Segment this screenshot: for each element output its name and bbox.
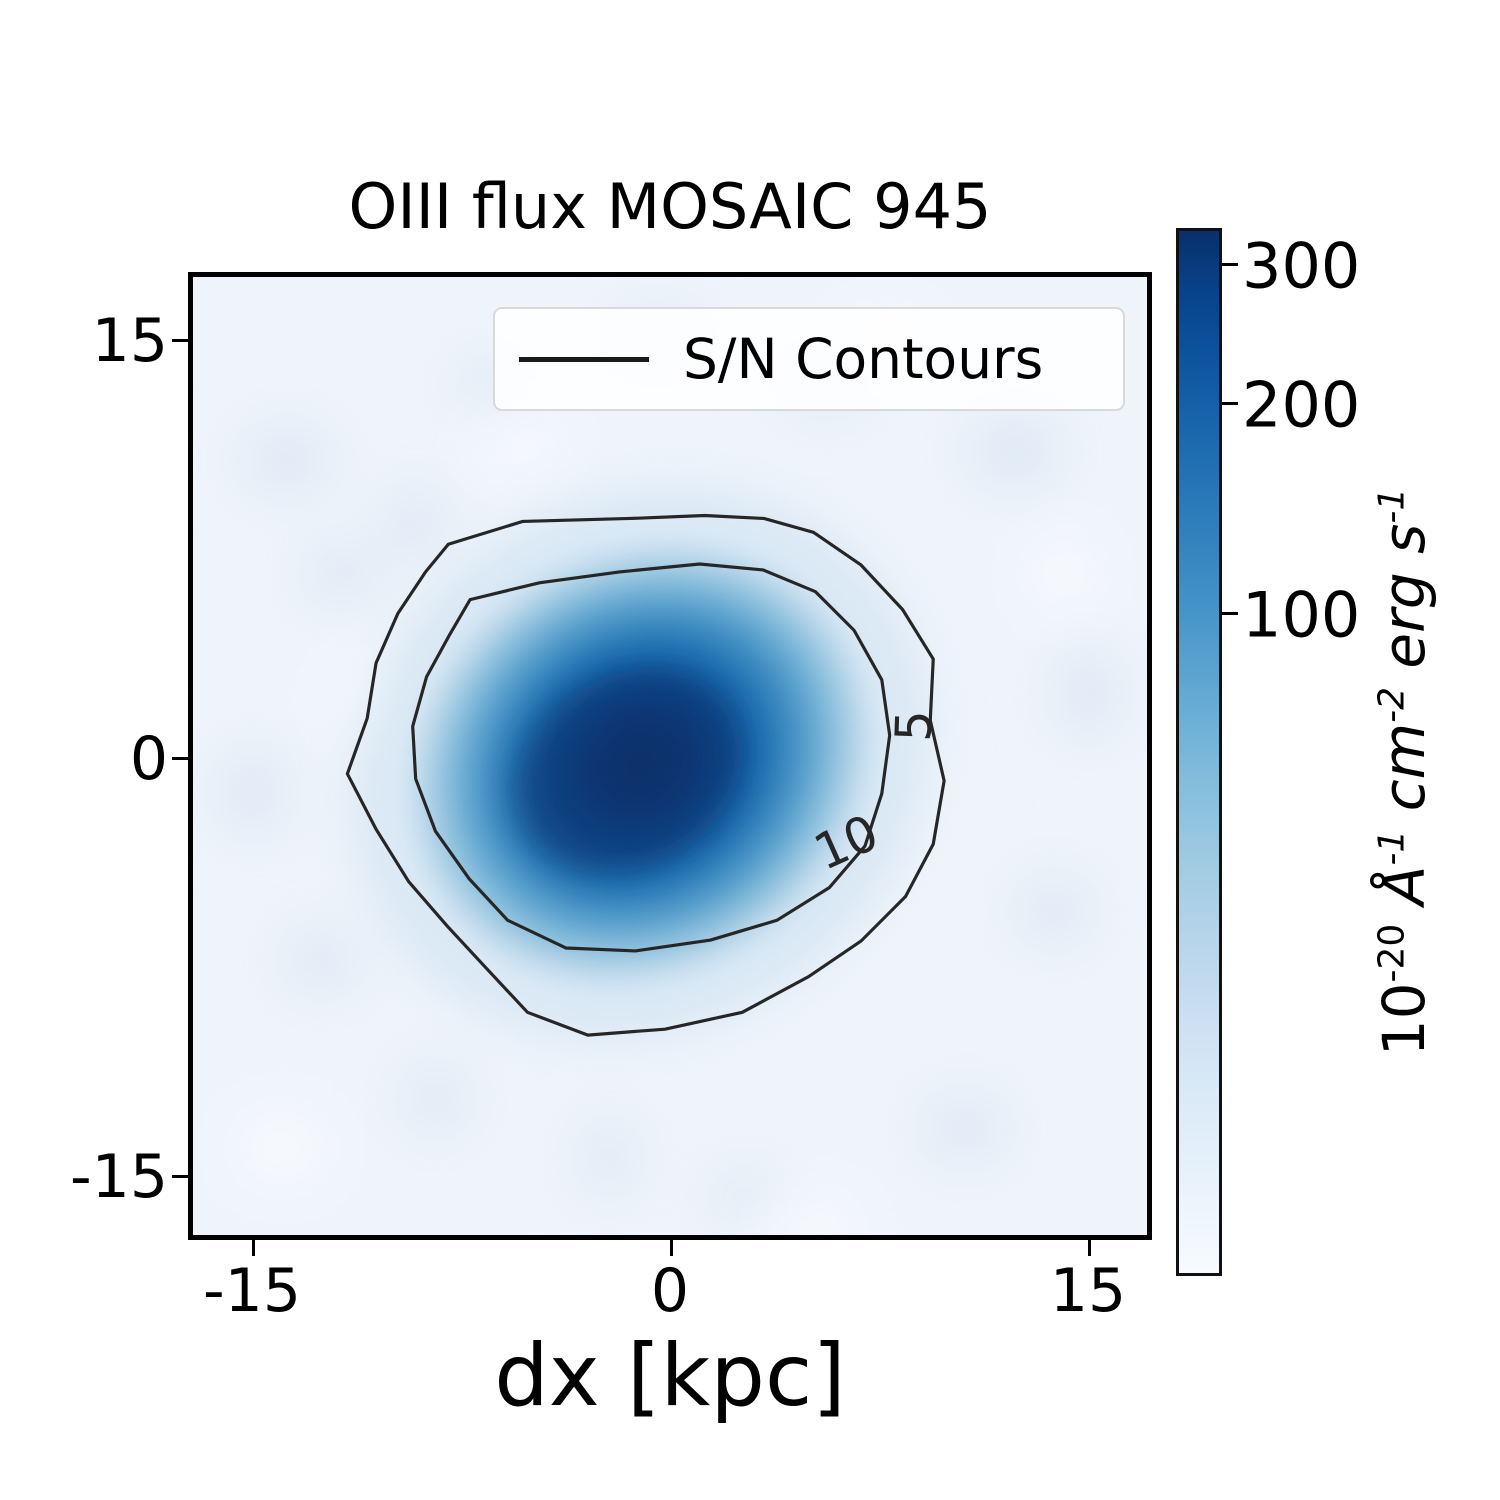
flux-image: 10 5 [193, 277, 1147, 1235]
x-tick-label: -15 [203, 1256, 301, 1326]
cbar-label-cm: cm [1370, 723, 1438, 811]
y-tick-label: -15 [70, 1142, 168, 1212]
y-tick-mark [172, 757, 188, 760]
x-tick-mark [252, 1240, 255, 1256]
flux-image-svg: 10 5 [193, 277, 1147, 1235]
legend-label: S/N Contours [683, 327, 1043, 391]
colorbar-tick-label: 300 [1242, 230, 1360, 303]
figure-canvas: OIII flux MOSAIC 945 [0, 0, 1500, 1500]
x-tick-mark [1088, 1240, 1091, 1256]
x-tick-label: 15 [1050, 1256, 1126, 1326]
x-tick-label: 0 [651, 1256, 689, 1326]
colorbar-label: 10-20 Å-1 cm-2 erg s-1 [1370, 488, 1438, 1057]
y-tick-mark [172, 339, 188, 342]
y-tick-label: 15 [92, 306, 168, 376]
cbar-label-cm-exp: -2 [1372, 687, 1413, 723]
svg-text:5: 5 [884, 709, 943, 742]
cbar-label-angstrom: Å [1370, 866, 1438, 906]
colorbar-tick-mark [1222, 263, 1238, 266]
legend-line-marker [519, 357, 649, 362]
x-tick-mark [670, 1240, 673, 1256]
cbar-label-erg-exp: -1 [1372, 488, 1413, 524]
cbar-label-prefix-exp: -20 [1372, 924, 1413, 983]
cbar-label-angstrom-exp: -1 [1372, 830, 1413, 866]
cbar-label-prefix: 10 [1370, 982, 1438, 1056]
y-tick-mark [172, 1175, 188, 1178]
x-axis-label: dx [kpc] [188, 1326, 1152, 1426]
y-tick-label: 0 [130, 724, 168, 794]
colorbar-tick-label: 100 [1242, 579, 1360, 652]
plot-axes: 10 5 S/N Contours [188, 272, 1152, 1240]
legend: S/N Contours [493, 307, 1125, 411]
colorbar-tick-mark [1222, 402, 1238, 405]
colorbar [1176, 228, 1222, 1276]
contour-label-5: 5 [884, 709, 943, 742]
page-title: OIII flux MOSAIC 945 [188, 176, 1152, 238]
colorbar-tick-label: 200 [1242, 369, 1360, 442]
colorbar-tick-mark [1222, 612, 1238, 615]
cbar-label-erg: erg s [1370, 524, 1438, 669]
